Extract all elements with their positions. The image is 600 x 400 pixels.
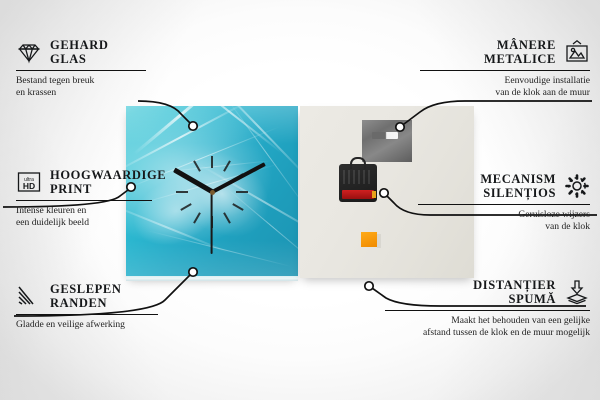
feature-title-line2: GLAS [50, 52, 108, 66]
clock-glass-edge [126, 276, 298, 281]
feature-header: DISTANȚIER SPUMĂ [330, 278, 590, 306]
feature-desc-line1: Eenvoudige installatie [375, 75, 590, 87]
feature-rule [16, 70, 146, 71]
feature-title-line2: PRINT [50, 182, 166, 196]
feature-silent-mechanism: MECANISM SILENȚIOS Geruisloze wijzers va… [385, 172, 590, 233]
clock-mechanism-box [339, 164, 377, 202]
feature-title-line1: HOOGWAARDIGE [50, 168, 166, 182]
feature-rule [418, 204, 590, 205]
gear-icon [564, 173, 590, 199]
feature-desc-line2: een duidelijk beeld [16, 217, 226, 229]
feature-header: GESLEPEN RANDEN [16, 282, 226, 310]
feature-header: GEHARD GLAS [16, 38, 216, 66]
feature-title-line2: RANDEN [50, 296, 122, 310]
battery [342, 190, 374, 199]
feature-desc-line1: Intense kleuren en [16, 205, 226, 217]
feature-polished-edges: GESLEPEN RANDEN Gladde en veilige afwerk… [16, 282, 226, 331]
feature-desc-line2: van de klok aan de muur [375, 87, 590, 99]
feature-rule [16, 314, 158, 315]
metal-hanger-plate [362, 120, 412, 162]
feature-desc-line2: van de klok [385, 221, 590, 233]
foam-spacer-block [361, 232, 377, 247]
diamond-icon [16, 39, 42, 65]
feature-title-line1: MECANISM [480, 172, 556, 186]
feature-header: MECANISM SILENȚIOS [385, 172, 590, 200]
feature-desc-line1: Maakt het behouden van een gelijke [330, 315, 590, 327]
infographic-canvas: GEHARD GLAS Bestand tegen breuk en krass… [0, 0, 600, 400]
feature-title-line1: GESLEPEN [50, 282, 122, 296]
feature-header: MÂNERE METALICE [375, 38, 590, 66]
arrow-into-layers-icon [564, 279, 590, 305]
feature-rule [385, 310, 590, 311]
svg-text:HD: HD [23, 181, 35, 191]
hanging-picture-icon [564, 39, 590, 65]
feature-hd-print: ultra HD HOOGWAARDIGE PRINT Intense kleu… [16, 168, 226, 229]
ultra-hd-icon: ultra HD [16, 169, 42, 195]
feature-title-line2: SILENȚIOS [480, 186, 556, 200]
feature-title-line2: METALICE [484, 52, 556, 66]
feature-title-line1: MÂNERE [484, 38, 556, 52]
feature-tempered-glass: GEHARD GLAS Bestand tegen breuk en krass… [16, 38, 216, 99]
diagonal-lines-icon [16, 283, 42, 309]
feature-rule [420, 70, 590, 71]
feature-title-line1: DISTANȚIER [473, 278, 556, 292]
feature-foam-spacer: DISTANȚIER SPUMĂ Maakt het behouden van … [330, 278, 590, 339]
feature-rule [16, 200, 152, 201]
feature-metal-handles: MÂNERE METALICE Eenvoudige installatie v… [375, 38, 590, 99]
mechanism-detail [343, 170, 373, 184]
feature-title-line2: SPUMĂ [473, 292, 556, 306]
feature-desc-line1: Geruisloze wijzers [385, 209, 590, 221]
feature-header: ultra HD HOOGWAARDIGE PRINT [16, 168, 226, 196]
feature-desc-line2: afstand tussen de klok en de muur mogeli… [330, 327, 590, 339]
feature-desc-line1: Bestand tegen breuk [16, 75, 216, 87]
feature-desc-line1: Gladde en veilige afwerking [16, 319, 226, 331]
feature-title-line1: GEHARD [50, 38, 108, 52]
mechanism-hanger-loop [350, 157, 366, 169]
feature-desc-line2: en krassen [16, 87, 216, 99]
